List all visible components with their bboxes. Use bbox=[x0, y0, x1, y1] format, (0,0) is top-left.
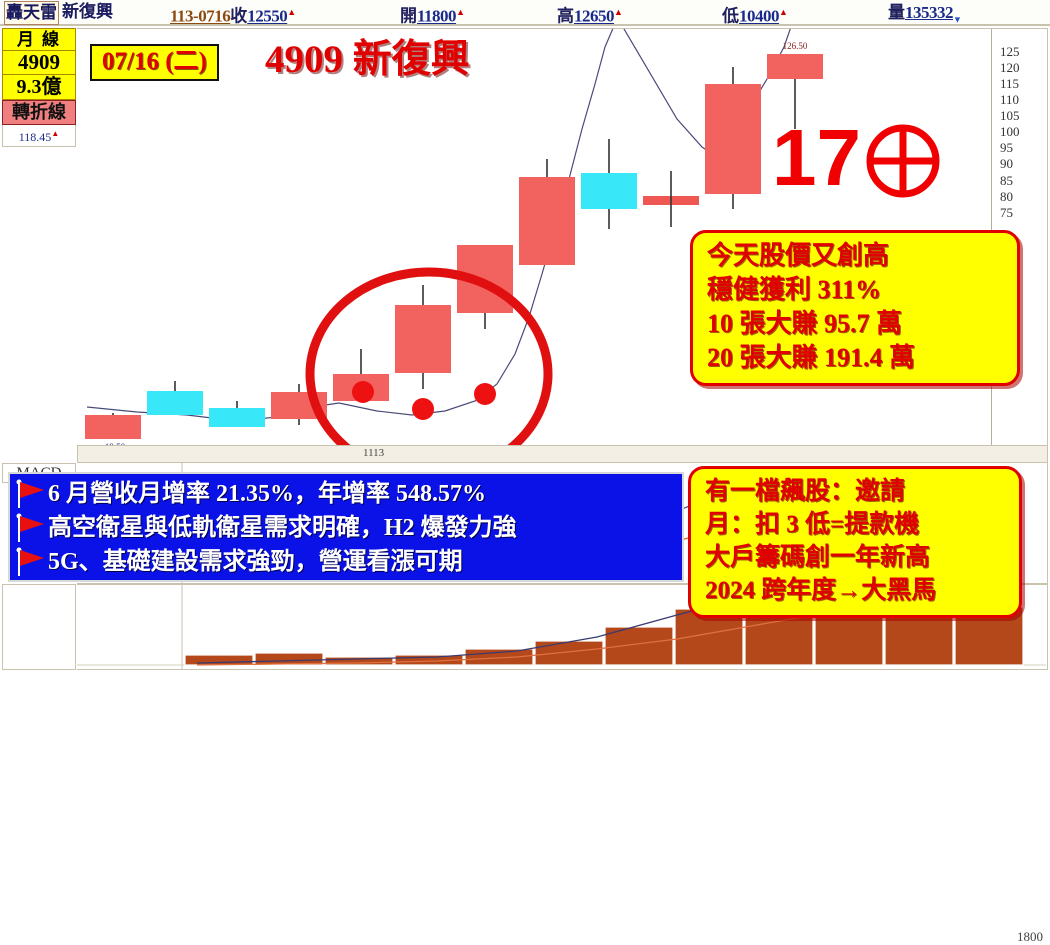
quote-close-field: 113-0716收12550▲ bbox=[170, 1, 296, 28]
page-title: 4909 新復興 bbox=[265, 38, 470, 82]
news-line-2: 高空衛星與低軌衛星需求明確，H2 爆發力強 bbox=[48, 513, 517, 543]
high-price-annotation: 126.50 bbox=[783, 41, 808, 51]
up-arrow-icon: ▲ bbox=[287, 7, 296, 17]
red-flag-icon bbox=[14, 513, 48, 543]
profit-line-3: 10 張大賺 95.7 萬 bbox=[707, 307, 1007, 341]
red-flag-icon bbox=[14, 479, 48, 509]
ma-dot-3 bbox=[474, 383, 496, 405]
quote-high-value: 12650 bbox=[574, 7, 614, 26]
volume-left-column bbox=[2, 584, 76, 670]
news-row: 5G、基礎建設需求強勁，營運看漲可期 bbox=[14, 545, 678, 579]
profit-line-4: 20 張大賺 191.4 萬 bbox=[707, 341, 1007, 375]
quote-open-label: 開 bbox=[400, 7, 417, 26]
promo-line-3: 大戶籌碼創一年新高 bbox=[705, 541, 1009, 574]
up-arrow-icon: ▲ bbox=[779, 7, 788, 17]
up-arrow-icon: ▲ bbox=[456, 7, 465, 17]
quote-low-field: 低10400▲ bbox=[722, 1, 788, 28]
down-arrow-icon: ▼ bbox=[953, 14, 962, 24]
stock-name-label: 新復興 bbox=[62, 1, 113, 23]
date-tick-label: 1113 bbox=[363, 447, 384, 459]
news-line-1: 6 月營收月增率 21.35%，年增率 548.57% bbox=[48, 479, 486, 509]
quote-close-value: 12550 bbox=[247, 7, 287, 26]
promo-line-4: 2024 跨年度→大黑馬 bbox=[705, 574, 1009, 607]
quote-close-label: 收 bbox=[230, 7, 247, 26]
news-row: 6 月營收月增率 21.35%，年增率 548.57% bbox=[14, 477, 678, 511]
quote-volume-field: 量135332▼ bbox=[888, 1, 962, 31]
quote-high-field: 高12650▲ bbox=[557, 1, 623, 28]
broker-brand-label: 轟天雷 bbox=[4, 1, 59, 25]
candle-10 bbox=[705, 67, 761, 209]
date-axis-strip: 1113 bbox=[77, 446, 1048, 462]
turning-line-label: 轉折線 bbox=[2, 100, 76, 125]
date-badge: 07/16 (二) bbox=[90, 44, 219, 81]
candle-9 bbox=[643, 171, 699, 227]
ma-dot-2 bbox=[412, 398, 434, 420]
quote-bar: 轟天雷 新復興 113-0716收12550▲ 開11800▲ 高12650▲ … bbox=[0, 0, 1050, 26]
stock-code-label: 4909 bbox=[2, 51, 76, 75]
profit-callout-box: 今天股價又創高 穩健獲利 311% 10 張大賺 95.7 萬 20 張大賺 1… bbox=[690, 230, 1020, 386]
news-highlight-box: 6 月營收月增率 21.35%，年增率 548.57% 高空衛星與低軌衛星需求明… bbox=[8, 472, 684, 582]
macd-scale-value: 1800 bbox=[1017, 929, 1043, 945]
quote-volume-value: 135332 bbox=[905, 3, 953, 22]
left-indicator-column: 月線 4909 9.3億 轉折線 118.45▲ bbox=[2, 28, 76, 147]
quote-open-field: 開11800▲ bbox=[400, 1, 465, 28]
promo-line-2: 月：扣 3 低=提款機 bbox=[705, 508, 1009, 541]
candle-8 bbox=[581, 139, 637, 229]
news-row: 高空衛星與低軌衛星需求明確，H2 爆發力強 bbox=[14, 511, 678, 545]
promo-line-1: 有一檔飆股：邀請 bbox=[705, 475, 1009, 508]
promo-callout-box: 有一檔飆股：邀請 月：扣 3 低=提款機 大戶籌碼創一年新高 2024 跨年度→… bbox=[688, 466, 1022, 618]
market-value-label: 9.3億 bbox=[2, 75, 76, 100]
candle-1 bbox=[147, 381, 203, 415]
quote-volume-label: 量 bbox=[888, 3, 905, 22]
profit-line-1: 今天股價又創高 bbox=[707, 239, 1007, 273]
quote-high-label: 高 bbox=[557, 7, 574, 26]
turning-line-value: 118.45▲ bbox=[2, 125, 76, 147]
candle-0 bbox=[85, 413, 141, 439]
ma-period-label: 月線 bbox=[2, 28, 76, 51]
quote-low-label: 低 bbox=[722, 7, 739, 26]
stock-chart-screen: 轟天雷 新復興 113-0716收12550▲ 開11800▲ 高12650▲ … bbox=[0, 0, 1050, 672]
quote-open-value: 11800 bbox=[417, 7, 456, 26]
quote-date-code: 113-0716 bbox=[170, 7, 230, 26]
candle-7 bbox=[519, 159, 575, 265]
news-line-3: 5G、基礎建設需求強勁，營運看漲可期 bbox=[48, 547, 463, 577]
low-price-annotation: 19.50 bbox=[105, 442, 126, 445]
quote-low-value: 10400 bbox=[739, 7, 779, 26]
profit-line-2: 穩健獲利 311% bbox=[707, 273, 1007, 307]
candle-2 bbox=[209, 401, 265, 427]
big-number-label: 17 bbox=[772, 118, 861, 198]
circle-cross-icon bbox=[866, 124, 940, 198]
red-flag-icon bbox=[14, 547, 48, 577]
ma-dot-1 bbox=[352, 381, 374, 403]
up-arrow-icon: ▲ bbox=[614, 7, 623, 17]
candle-5 bbox=[395, 285, 451, 389]
